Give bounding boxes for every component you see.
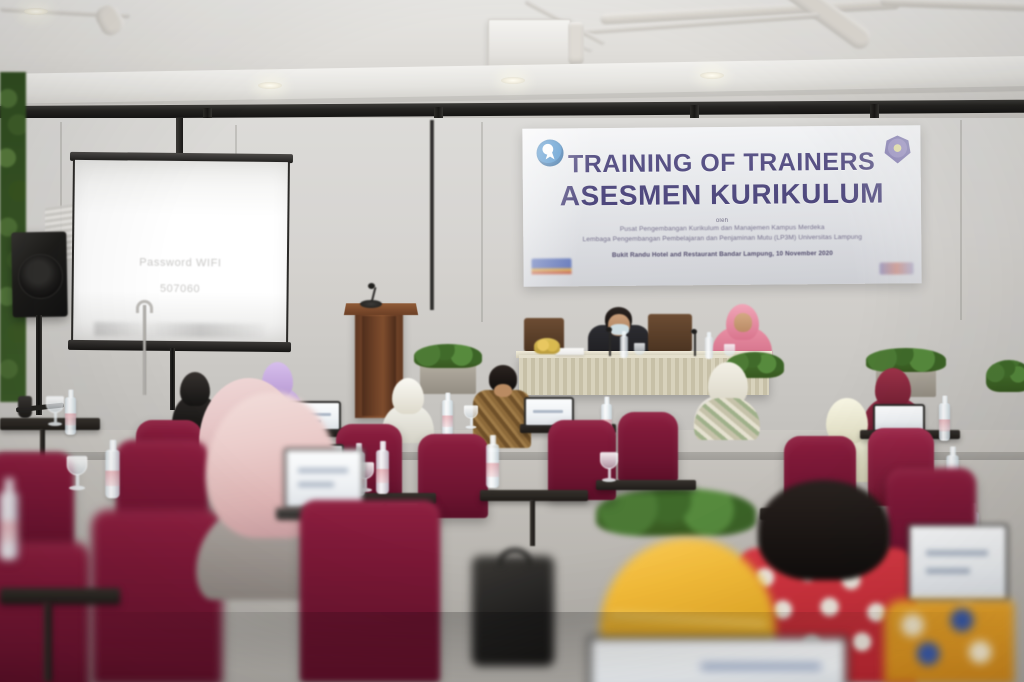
bottle-label	[0, 522, 19, 542]
executive-chair	[648, 314, 692, 352]
table-paper-notes	[556, 348, 584, 355]
ac-refrigerant-pipe	[568, 22, 584, 64]
participant-shoulders	[694, 398, 760, 440]
table-flower-arrangement	[534, 338, 560, 354]
goblet-foot	[69, 486, 85, 491]
bottle-label	[442, 416, 453, 427]
goblet-bowl	[46, 396, 64, 413]
table-microphone-stem	[694, 332, 696, 356]
podium-microphone-head	[368, 283, 375, 289]
microphone-stand	[143, 305, 146, 395]
table-microphone-stem	[609, 330, 611, 356]
slide-line-1: Password WIFI	[74, 256, 287, 270]
participant-desk	[0, 588, 120, 604]
recessed-downlight	[258, 82, 282, 89]
event-banner: TRAINING OF TRAINERS ASESMEN KURIKULUM o…	[522, 125, 921, 286]
presenter-face	[734, 313, 752, 332]
planter-greenery	[414, 344, 482, 368]
bottle-label	[105, 471, 119, 486]
bottle-label	[376, 469, 389, 482]
vertical-pole	[430, 120, 434, 310]
participant-neck	[494, 384, 512, 397]
table-microphone-head	[691, 329, 697, 334]
projector-screen: Password WIFI 507060	[71, 152, 290, 352]
water-bottle	[0, 492, 19, 560]
planter-greenery	[986, 360, 1024, 392]
water-bottle	[105, 450, 119, 498]
table-water-bottle	[705, 337, 713, 359]
microphone-stand-hook	[136, 300, 153, 313]
water-bottle	[486, 444, 499, 488]
participant-hair	[758, 480, 890, 580]
speaker-stand-pole	[36, 315, 42, 415]
participant-laptop	[908, 524, 1008, 602]
table-drinking-glass	[634, 343, 645, 355]
goblet-glass	[600, 452, 618, 482]
table-microphone-head	[606, 327, 612, 332]
wall-seam	[481, 122, 483, 322]
table-ornament	[18, 396, 32, 418]
laptop-screen-content	[926, 568, 970, 574]
recessed-downlight	[700, 72, 724, 79]
water-bottle	[65, 397, 76, 434]
conference-room-photo: TRAINING OF TRAINERS ASESMEN KURIKULUM o…	[0, 0, 1024, 682]
bottle-label	[486, 463, 499, 476]
goblet-stem	[54, 412, 57, 422]
slide-line-2: 507060	[74, 282, 287, 296]
podium-microphone-base	[360, 300, 382, 308]
slide-bottom-smudge	[94, 322, 265, 338]
bottle-label	[65, 414, 76, 425]
goblet-glass	[46, 396, 64, 426]
goblet-stem	[470, 418, 472, 426]
goblet-foot	[466, 426, 477, 429]
banner-venue-line: Bukit Randu Hotel and Restaurant Bandar …	[523, 249, 921, 259]
goblet-bowl	[464, 405, 478, 418]
laptop-screen-content	[926, 550, 988, 556]
water-bottle	[939, 403, 950, 440]
wall-seam	[960, 120, 962, 320]
presenter-face-mask	[610, 324, 629, 335]
goblet-stem	[608, 468, 611, 478]
desk-leg	[530, 500, 535, 546]
banner-title-line-1: TRAINING OF TRAINERS	[523, 146, 921, 179]
recessed-downlight	[501, 77, 525, 84]
banner-title-line-2: ASESMEN KURIKULUM	[523, 176, 921, 212]
participant-brown-batik-man	[473, 366, 531, 446]
water-bottle	[442, 400, 453, 436]
speaker-cone	[17, 254, 63, 300]
audience-chair	[618, 412, 678, 482]
table-water-bottle	[620, 336, 628, 358]
goblet-bowl	[600, 452, 618, 469]
laptop-screen-content	[298, 482, 334, 487]
goblet-bowl	[67, 456, 88, 476]
laptop-screen-content	[533, 410, 563, 413]
foreground-shadow	[0, 612, 1024, 682]
goblet-foot	[48, 422, 62, 426]
goblet-glass	[67, 456, 88, 491]
projected-slide: Password WIFI 507060	[71, 160, 290, 344]
recessed-downlight	[24, 8, 48, 15]
goblet-foot	[602, 478, 616, 482]
participant-patterned-hijab-right	[694, 362, 760, 436]
planter-greenery	[596, 488, 756, 536]
bottle-label	[939, 420, 950, 431]
participant-hijab	[392, 378, 424, 414]
laptop-screen-content	[298, 468, 348, 473]
table-drinking-glass	[724, 344, 735, 356]
goblet-stem	[75, 474, 78, 486]
water-bottle	[376, 450, 389, 494]
goblet-glass	[464, 405, 478, 428]
pa-speaker	[11, 232, 67, 318]
